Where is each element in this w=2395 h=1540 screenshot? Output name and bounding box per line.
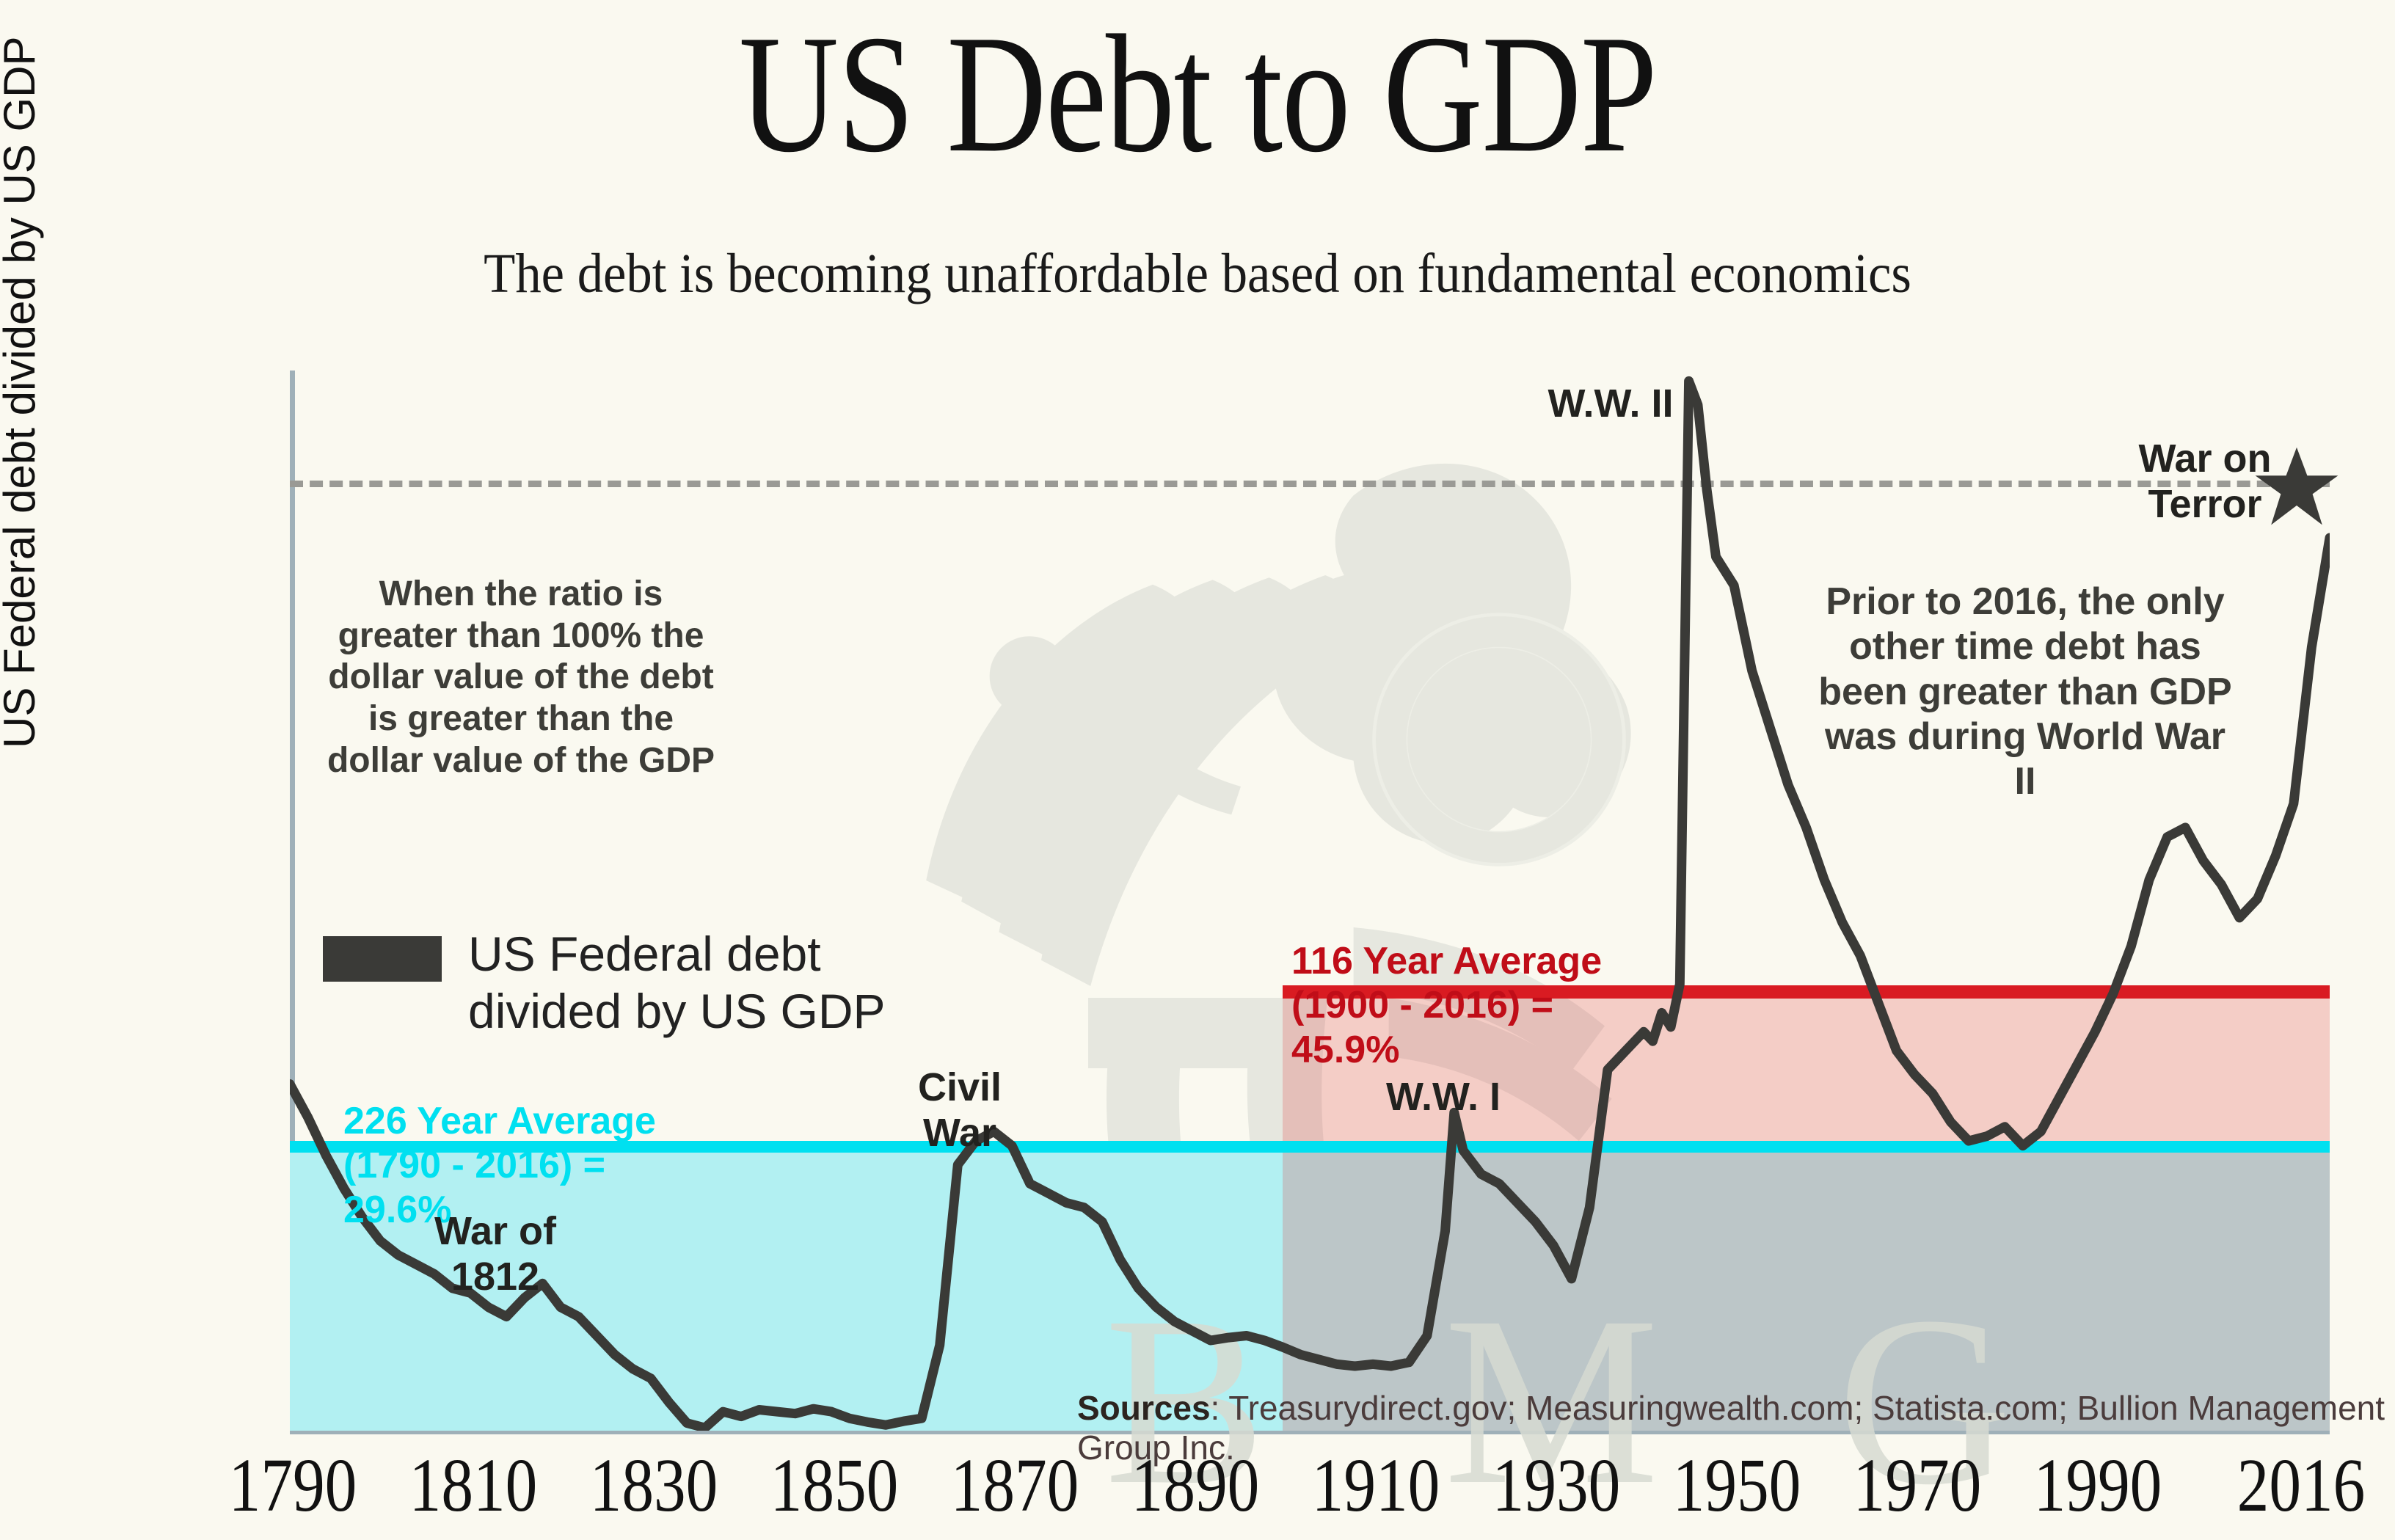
x-tick-1790: 1790 xyxy=(229,1442,357,1529)
y-axis-label: US Federal debt divided by US GDP xyxy=(0,37,45,748)
x-tick-1850: 1850 xyxy=(770,1442,899,1529)
avg-116-label: 116 Year Average (1900 - 2016) = 45.9% xyxy=(1291,939,1658,1072)
threshold-explanation-note: When the ratio is greater than 100% the … xyxy=(316,574,726,781)
sources-text: : Treasurydirect.gov; Measuringwealth.co… xyxy=(1077,1389,2385,1467)
x-tick-1810: 1810 xyxy=(409,1442,538,1529)
sources-line: Sources: Treasurydirect.gov; Measuringwe… xyxy=(1077,1388,2395,1467)
page-subtitle: The debt is becoming unaffordable based … xyxy=(84,242,2311,306)
event-label-civil-war: Civil War xyxy=(886,1065,1033,1156)
event-label-war-on-terror: War on Terror xyxy=(2121,437,2289,527)
debt-to-gdp-series xyxy=(290,367,2330,1431)
legend-label-series: US Federal debt divided by US GDP xyxy=(468,926,886,1040)
event-label-ww2: W.W. II xyxy=(1526,382,1695,427)
chart-plot-area: B M G xyxy=(290,367,2330,1431)
ww2-comparison-note: Prior to 2016, the only other time debt … xyxy=(1812,580,2238,805)
sources-prefix: Sources xyxy=(1077,1389,1211,1427)
page-title: US Debt to GDP xyxy=(216,16,2179,172)
chart-legend: US Federal debt divided by US GDP xyxy=(323,926,886,1040)
x-tick-1830: 1830 xyxy=(590,1442,718,1529)
legend-swatch-series xyxy=(323,936,442,982)
event-label-war-of-1812: War of 1812 xyxy=(407,1209,583,1299)
event-label-ww1: W.W. I xyxy=(1359,1075,1528,1120)
x-tick-1870: 1870 xyxy=(951,1442,1079,1529)
